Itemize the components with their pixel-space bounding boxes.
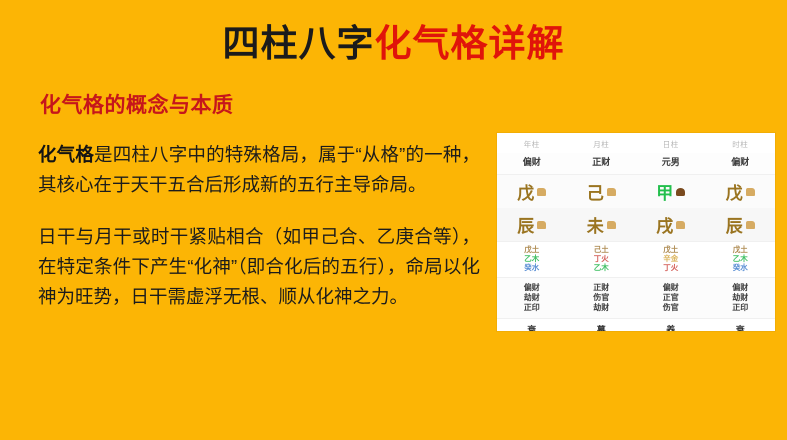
bazi-chart-grid: 年柱 月柱 日柱 时柱 偏财 正财 元男 偏财 戊 己 甲 戊 辰 未 戌 辰 bbox=[497, 133, 775, 331]
bazi-hidden-god-3-0: 偏财 bbox=[706, 283, 776, 293]
section-heading: 化气格的概念与本质 bbox=[40, 89, 234, 119]
paragraph-2-body: 日干与月干或时干紧贴相合（如甲己合、乙庚合等），在特定条件下产生“化神”（即合化… bbox=[38, 226, 480, 307]
earth-mound-icon bbox=[746, 188, 755, 196]
bazi-pillar-header-0: 年柱 bbox=[497, 133, 567, 153]
bazi-life-stage-0: 衰 bbox=[497, 319, 567, 331]
bazi-hidden-gods-cell-3: 偏财 劫财 正印 bbox=[706, 278, 776, 318]
bazi-stem-cell-2: 甲 bbox=[636, 175, 706, 208]
bazi-hidden-2-2: 丁火 bbox=[636, 264, 706, 273]
bazi-hidden-god-1-1: 伤官 bbox=[567, 293, 637, 303]
bazi-pillar-header-1: 月柱 bbox=[567, 133, 637, 153]
bazi-hidden-cell-1: 己土 丁火 乙木 bbox=[567, 242, 637, 277]
bazi-hidden-god-3-1: 劫财 bbox=[706, 293, 776, 303]
bazi-hidden-cell-3: 戊土 乙木 癸水 bbox=[706, 242, 776, 277]
bazi-branch-cell-0: 辰 bbox=[497, 208, 567, 241]
paragraph-1: 化气格是四柱八字中的特殊格局，属于“从格”的一种，其核心在于天干五合后形成新的五… bbox=[38, 140, 480, 200]
earth-mound-icon bbox=[607, 221, 616, 229]
bazi-hidden-god-0-0: 偏财 bbox=[497, 283, 567, 293]
bazi-hidden-gods-cell-1: 正财 伤官 劫财 bbox=[567, 278, 637, 318]
bazi-stem-glyph-3: 戊 bbox=[726, 184, 743, 204]
bazi-branch-glyph-3: 辰 bbox=[726, 217, 743, 237]
bazi-chart-card: 年柱 月柱 日柱 时柱 偏财 正财 元男 偏财 戊 己 甲 戊 辰 未 戌 辰 bbox=[497, 133, 775, 331]
page-title-accent: 化气格详解 bbox=[375, 23, 565, 64]
bazi-hidden-cell-2: 戊土 辛金 丁火 bbox=[636, 242, 706, 277]
earth-mound-icon bbox=[676, 221, 685, 229]
wood-tree-icon bbox=[676, 188, 685, 196]
bazi-hidden-god-1-0: 正财 bbox=[567, 283, 637, 293]
bazi-hidden-1-2: 乙木 bbox=[567, 264, 637, 273]
bazi-hidden-gods-cell-0: 偏财 劫财 正印 bbox=[497, 278, 567, 318]
bazi-stem-cell-1: 己 bbox=[567, 175, 637, 208]
bazi-hidden-0-2: 癸水 bbox=[497, 264, 567, 273]
bazi-stem-glyph-0: 戊 bbox=[517, 184, 534, 204]
body-text-column: 化气格是四柱八字中的特殊格局，属于“从格”的一种，其核心在于天干五合后形成新的五… bbox=[38, 140, 480, 312]
page-title: 四柱八字化气格详解 bbox=[0, 22, 787, 66]
bazi-branch-cell-2: 戌 bbox=[636, 208, 706, 241]
paragraph-1-body: 是四柱八字中的特殊格局，属于“从格”的一种，其核心在于天干五合后形成新的五行主导… bbox=[38, 144, 480, 195]
bazi-hidden-god-0-1: 劫财 bbox=[497, 293, 567, 303]
slide-root: { "slide": { "background_color": "#FCB50… bbox=[0, 0, 787, 440]
bazi-hidden-god-1-2: 劫财 bbox=[567, 303, 637, 313]
bazi-branch-glyph-1: 未 bbox=[587, 217, 604, 237]
paragraph-2: 日干与月干或时干紧贴相合（如甲己合、乙庚合等），在特定条件下产生“化神”（即合化… bbox=[38, 222, 480, 312]
bazi-stem-god-2: 元男 bbox=[636, 153, 706, 174]
bazi-branch-cell-1: 未 bbox=[567, 208, 637, 241]
page-title-primary: 四柱八字 bbox=[223, 23, 375, 64]
bazi-stem-cell-0: 戊 bbox=[497, 175, 567, 208]
bazi-stem-god-3: 偏财 bbox=[706, 153, 776, 174]
earth-mound-icon bbox=[607, 188, 616, 196]
bazi-stem-god-0: 偏财 bbox=[497, 153, 567, 174]
earth-mound-icon bbox=[746, 221, 755, 229]
earth-mound-icon bbox=[537, 221, 546, 229]
bazi-life-stage-1: 墓 bbox=[567, 319, 637, 331]
bazi-life-stage-3: 衰 bbox=[706, 319, 776, 331]
paragraph-1-lead: 化气格 bbox=[38, 144, 94, 165]
bazi-hidden-god-2-0: 偏财 bbox=[636, 283, 706, 293]
bazi-life-stage-2: 养 bbox=[636, 319, 706, 331]
bazi-hidden-god-3-2: 正印 bbox=[706, 303, 776, 313]
bazi-stem-glyph-2: 甲 bbox=[656, 184, 673, 204]
bazi-hidden-god-2-2: 伤官 bbox=[636, 303, 706, 313]
bazi-hidden-god-0-2: 正印 bbox=[497, 303, 567, 313]
bazi-pillar-header-2: 日柱 bbox=[636, 133, 706, 153]
earth-mound-icon bbox=[537, 188, 546, 196]
bazi-branch-cell-3: 辰 bbox=[706, 208, 776, 241]
bazi-hidden-god-2-1: 正官 bbox=[636, 293, 706, 303]
bazi-hidden-3-2: 癸水 bbox=[706, 264, 776, 273]
bazi-hidden-cell-0: 戊土 乙木 癸水 bbox=[497, 242, 567, 277]
bazi-branch-glyph-0: 辰 bbox=[517, 217, 534, 237]
bazi-stem-cell-3: 戊 bbox=[706, 175, 776, 208]
bazi-hidden-gods-cell-2: 偏财 正官 伤官 bbox=[636, 278, 706, 318]
bazi-stem-god-1: 正财 bbox=[567, 153, 637, 174]
bazi-branch-glyph-2: 戌 bbox=[656, 217, 673, 237]
bazi-stem-glyph-1: 己 bbox=[587, 184, 604, 204]
bazi-pillar-header-3: 时柱 bbox=[706, 133, 776, 153]
